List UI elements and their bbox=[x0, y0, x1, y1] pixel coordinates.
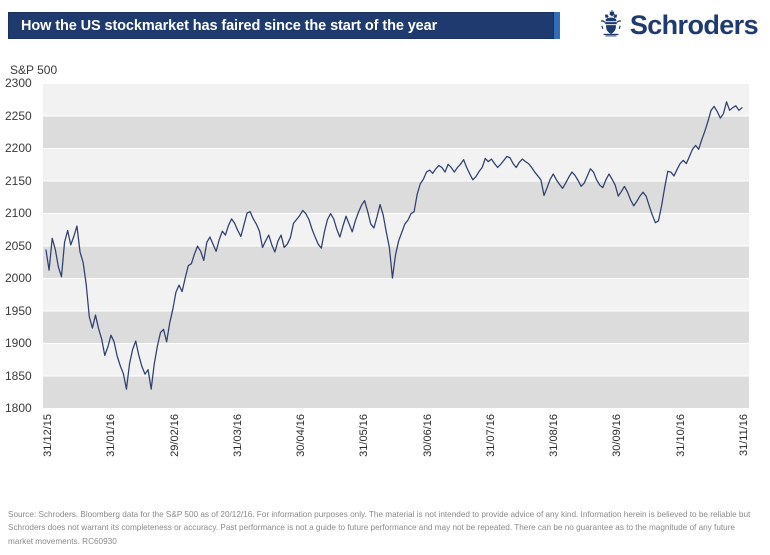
y-tick-label: 1950 bbox=[5, 304, 41, 318]
x-tick-label: 31/01/16 bbox=[105, 414, 117, 457]
x-tick-label: 31/08/16 bbox=[548, 414, 560, 457]
x-tick-label: 31/03/16 bbox=[232, 414, 244, 457]
title-accent-strip bbox=[554, 12, 560, 39]
y-tick-label: 2250 bbox=[5, 109, 41, 123]
x-tick-label: 31/10/16 bbox=[675, 414, 687, 457]
schroders-crest-icon bbox=[598, 9, 624, 42]
y-tick-label: 2300 bbox=[5, 76, 41, 90]
x-tick-label: 29/02/16 bbox=[169, 414, 181, 457]
x-tick-label: 30/04/16 bbox=[295, 414, 307, 457]
page-title: How the US stockmarket has faired since … bbox=[21, 13, 437, 40]
y-axis-tick-labels: 2300225022002150210020502000195019001850… bbox=[0, 83, 41, 408]
source-disclaimer: Source: Schroders. Bloomberg data for th… bbox=[8, 508, 762, 548]
brand-name: Schroders bbox=[630, 12, 758, 39]
y-tick-label: 2000 bbox=[5, 271, 41, 285]
grid-band bbox=[43, 376, 749, 409]
x-tick-label: 31/11/16 bbox=[738, 414, 750, 456]
x-axis-tick-labels: 31/12/1531/01/1629/02/1631/03/1630/04/16… bbox=[43, 410, 749, 495]
brand-logo: Schroders bbox=[598, 9, 758, 42]
grid-band bbox=[43, 311, 749, 344]
grid-band bbox=[43, 116, 749, 149]
y-tick-label: 2100 bbox=[5, 206, 41, 220]
title-bar: How the US stockmarket has faired since … bbox=[8, 12, 554, 39]
y-tick-label: 2150 bbox=[5, 174, 41, 188]
x-tick-label: 30/06/16 bbox=[422, 414, 434, 457]
y-tick-label: 1850 bbox=[5, 369, 41, 383]
x-tick-label: 31/12/15 bbox=[42, 414, 54, 457]
plot-area bbox=[43, 83, 749, 408]
chart: S&P 500 23002250220021502100205020001950… bbox=[0, 48, 770, 503]
page-header: How the US stockmarket has faired since … bbox=[0, 0, 770, 48]
x-tick-label: 31/05/16 bbox=[358, 414, 370, 457]
y-tick-label: 1800 bbox=[5, 401, 41, 415]
y-tick-label: 1900 bbox=[5, 336, 41, 350]
y-tick-label: 2200 bbox=[5, 141, 41, 155]
y-axis-title: S&P 500 bbox=[10, 63, 57, 77]
line-chart-svg bbox=[43, 83, 749, 408]
grid-band bbox=[43, 181, 749, 214]
y-tick-label: 2050 bbox=[5, 239, 41, 253]
x-tick-label: 30/09/16 bbox=[611, 414, 623, 457]
x-tick-label: 31/07/16 bbox=[485, 414, 497, 457]
